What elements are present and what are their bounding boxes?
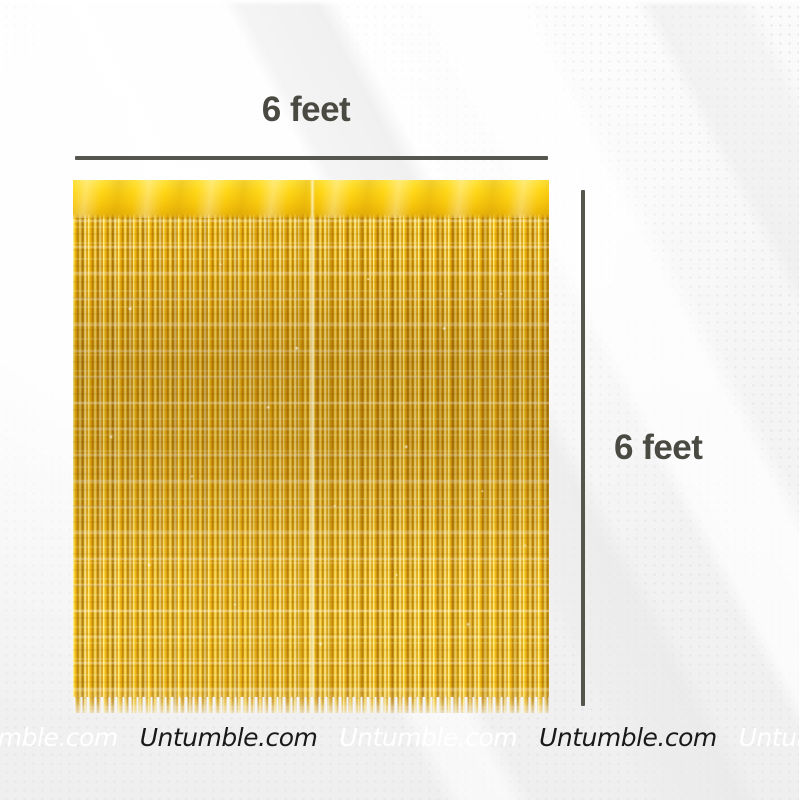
width-dimension-line — [75, 156, 548, 160]
gold-foil-fringe-curtain-product — [73, 180, 549, 713]
height-dimension-line — [581, 190, 585, 706]
height-dimension-label: 6 feet — [614, 428, 702, 468]
background-top-highlight — [0, 0, 799, 6]
foil-panel-seam — [310, 180, 315, 713]
product-image-canvas: 6 feet 6 feet Untumble.com Untumble.com … — [0, 0, 799, 800]
foil-bottom-ragged-edge — [73, 697, 549, 713]
width-dimension-label: 6 feet — [0, 90, 612, 130]
